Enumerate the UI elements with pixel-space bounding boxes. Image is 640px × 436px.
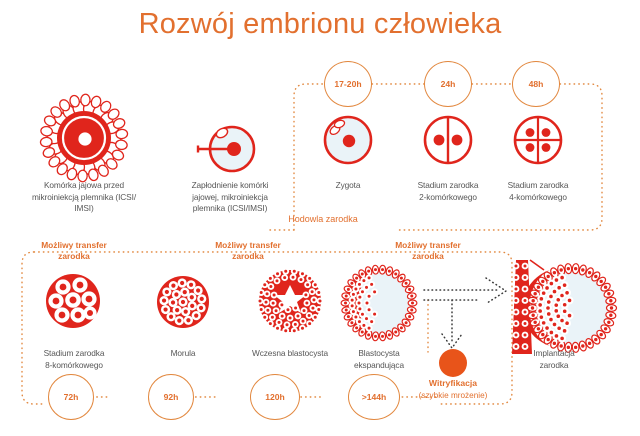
stage-label-four-cell-line1: Stadium zarodka bbox=[508, 180, 569, 190]
stage-label-four-cell: Stadium zarodka 4-komórkowego bbox=[490, 180, 586, 203]
stage-label-zygote-line1: Zygota bbox=[336, 180, 361, 190]
infographic-canvas: Rozwój embrionu człowieka bbox=[0, 0, 640, 436]
embryo-implantation-icon bbox=[510, 258, 620, 358]
stage-label-two-cell: Stadium zarodka 2-komórkowego bbox=[400, 180, 496, 203]
two-cell-embryo-icon bbox=[422, 114, 474, 166]
stage-label-eight-cell-line2: 8-komórkowego bbox=[45, 360, 103, 370]
stage-label-implantation-line1: Implantacja bbox=[533, 348, 574, 358]
four-cell-embryo-icon bbox=[512, 114, 564, 166]
oocyte-with-cumulus-cells-icon bbox=[38, 92, 130, 184]
stage-label-oocyte-pre-icsi-line3: IMSI) bbox=[74, 203, 93, 213]
page-title: Rozwój embrionu człowieka bbox=[0, 8, 640, 41]
stage-label-morula-line1: Morula bbox=[171, 348, 196, 358]
stage-label-fertilization-icsi-line1: Zapłodnienie komórki bbox=[192, 180, 269, 190]
transfer-label-2: Możliwy transfer zarodka bbox=[196, 240, 300, 262]
stage-label-morula: Morula bbox=[140, 348, 226, 360]
stage-label-implantation: Implantacja zarodka bbox=[506, 348, 602, 371]
stage-label-four-cell-line2: 4-komórkowego bbox=[509, 192, 567, 202]
transfer-label-3-line2: zarodka bbox=[412, 251, 444, 261]
time-badge-92h[interactable]: 92h bbox=[148, 374, 194, 420]
early-blastocyst-icon bbox=[257, 268, 323, 334]
time-badge-24h[interactable]: 24h bbox=[424, 61, 472, 107]
stage-label-eight-cell: Stadium zarodka 8-komórkowego bbox=[22, 348, 126, 371]
time-badge-144h[interactable]: >144h bbox=[348, 374, 400, 420]
time-badge-48h[interactable]: 48h bbox=[512, 61, 560, 107]
section-label-culture: Hodowla zarodka bbox=[258, 214, 388, 224]
eight-cell-embryo-icon bbox=[44, 272, 102, 330]
transfer-label-1-line2: zarodka bbox=[58, 251, 90, 261]
zygote-icon bbox=[322, 114, 374, 166]
stage-label-two-cell-line1: Stadium zarodka bbox=[418, 180, 479, 190]
stage-label-expanding-blastocyst: Blastocysta ekspandująca bbox=[330, 348, 428, 371]
time-badge-72h[interactable]: 72h bbox=[48, 374, 94, 420]
stage-label-fertilization-icsi-line3: plemnika (ICSI/IMSI) bbox=[193, 203, 268, 213]
time-badge-120h[interactable]: 120h bbox=[250, 374, 300, 420]
stage-label-zygote: Zygota bbox=[306, 180, 390, 192]
stage-label-oocyte-pre-icsi: Komórka jajowa przed mikroiniekcją plemn… bbox=[14, 180, 154, 215]
stage-label-eight-cell-line1: Stadium zarodka bbox=[44, 348, 105, 358]
transfer-label-1: Możliwy transfer zarodka bbox=[22, 240, 126, 262]
stage-label-expanding-blastocyst-line1: Blastocysta bbox=[358, 348, 399, 358]
stage-label-two-cell-line2: 2-komórkowego bbox=[419, 192, 477, 202]
expanding-blastocyst-icon bbox=[342, 266, 416, 340]
morula-icon bbox=[155, 274, 211, 330]
stage-label-fertilization-icsi-line2: jajowej, mikroiniekcja bbox=[192, 192, 268, 202]
transfer-label-1-line1: Możliwy transfer bbox=[41, 240, 107, 250]
stage-label-implantation-line2: zarodka bbox=[540, 360, 569, 370]
vitrification-label-line2: (szybkie mrożenie) bbox=[398, 390, 508, 402]
vitrification-label: Witryfikacja (szybkie mrożenie) bbox=[398, 378, 508, 401]
vitrification-dot-icon bbox=[438, 348, 468, 378]
stage-label-early-blastocyst-line1: Wczesna blastocysta bbox=[252, 348, 328, 358]
transfer-label-3: Możliwy transfer zarodka bbox=[376, 240, 480, 262]
icsi-needle-injection-icon bbox=[196, 118, 262, 180]
transfer-label-2-line2: zarodka bbox=[232, 251, 264, 261]
transfer-label-3-line1: Możliwy transfer bbox=[395, 240, 461, 250]
time-badge-17-20h[interactable]: 17-20h bbox=[324, 61, 372, 107]
transfer-label-2-line1: Możliwy transfer bbox=[215, 240, 281, 250]
vitrification-label-line1: Witryfikacja bbox=[398, 378, 508, 390]
stage-label-oocyte-pre-icsi-line2: mikroiniekcją plemnika (ICSI/ bbox=[32, 192, 136, 202]
stage-label-oocyte-pre-icsi-line1: Komórka jajowa przed bbox=[44, 180, 124, 190]
stage-label-expanding-blastocyst-line2: ekspandująca bbox=[354, 360, 404, 370]
stage-label-fertilization-icsi: Zapłodnienie komórki jajowej, mikroiniek… bbox=[168, 180, 292, 215]
